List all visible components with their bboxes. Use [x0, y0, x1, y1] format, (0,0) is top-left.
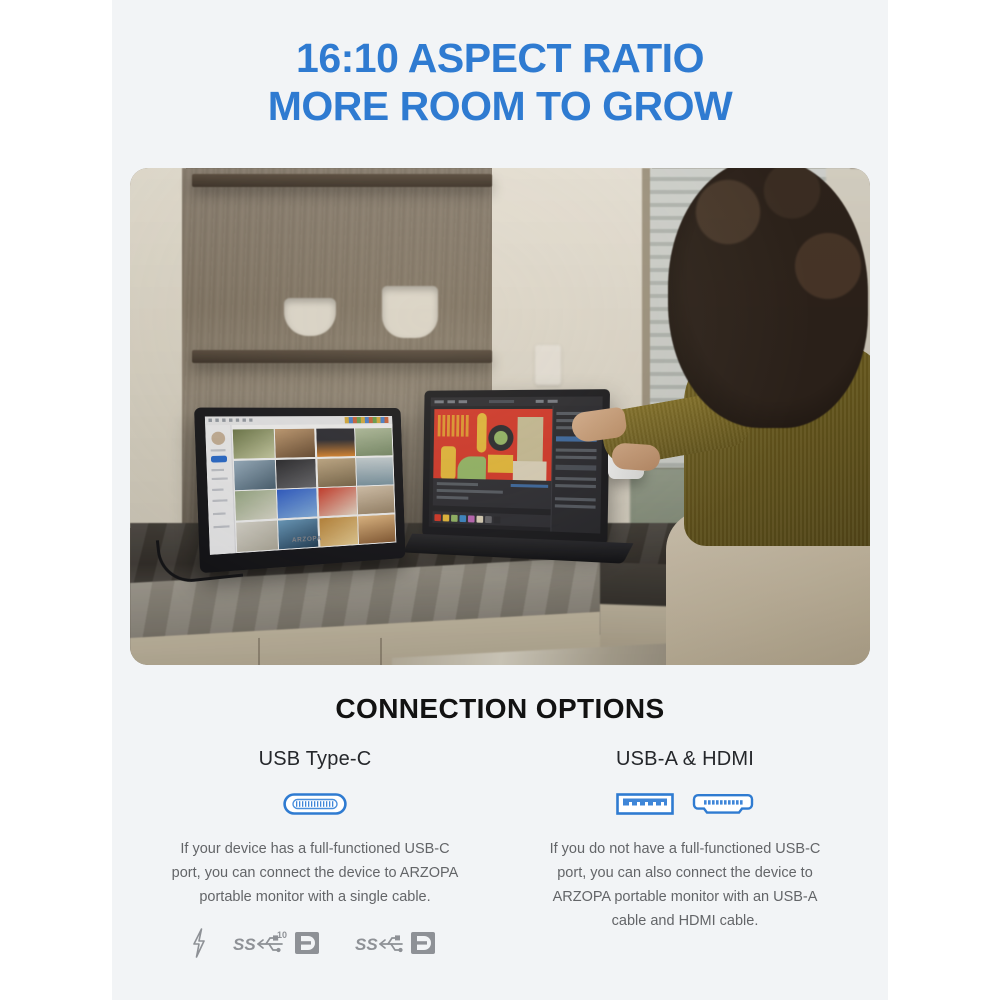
kitchen-wall-left [130, 168, 186, 528]
sidebar-line [212, 488, 224, 491]
superspeed-usb-displayport-icon: SS [355, 928, 439, 958]
connection-option-usb-a-hdmi: USB-A & HDMI [500, 748, 870, 933]
sidebar-line [211, 449, 226, 451]
gallery-thumbnail [233, 429, 275, 459]
gallery-thumbnail [235, 490, 277, 521]
option-description: If you do not have a full-functioned USB… [500, 837, 870, 933]
connection-option-usb-c: USB Type-C If your device h [130, 748, 500, 933]
connection-options-columns: USB Type-C If your device h [130, 748, 870, 933]
cabinet-seam [258, 638, 260, 665]
displayport-logo [295, 932, 319, 954]
sidebar-line [213, 512, 226, 515]
option-title: USB Type-C [130, 748, 500, 771]
sidebar-line [213, 499, 228, 502]
gallery-thumbnail [318, 487, 357, 517]
page-title: 16:10 ASPECT RATIO MORE ROOM TO GROW [112, 34, 888, 130]
ss-label: SS [233, 935, 256, 954]
hero-scene: ARZOPA [130, 168, 870, 665]
gallery-thumbnail [355, 428, 392, 456]
gallery-thumbnail [276, 459, 316, 489]
option-port-icons [500, 791, 870, 817]
avatar [211, 432, 225, 445]
sidebar-primary-button [211, 456, 227, 463]
floating-shelf-bottom [192, 350, 492, 363]
app-menubar [431, 396, 603, 406]
sidebar-line [211, 469, 224, 472]
sidebar-line [213, 525, 229, 528]
gallery-thumbnail [234, 460, 276, 490]
hero-photo: ARZOPA [130, 168, 870, 665]
power-delivery-bolt-icon [191, 928, 207, 958]
gallery-thumbnail [277, 489, 317, 519]
product-infographic-page: 16:10 ASPECT RATIO MORE ROOM TO GROW [0, 0, 1000, 1000]
headline-line-2: MORE ROOM TO GROW [112, 82, 888, 130]
option-title: USB-A & HDMI [500, 748, 870, 771]
gallery-thumbnail [275, 429, 315, 458]
speed-label: 10 [277, 930, 287, 940]
displayport-logo [411, 932, 435, 954]
connection-options-title: CONNECTION OPTIONS [112, 693, 888, 725]
hand-on-trackpad [611, 442, 661, 471]
headline-line-1: 16:10 ASPECT RATIO [296, 35, 704, 81]
usb-a-port-icon [616, 792, 674, 816]
person [628, 168, 870, 665]
ceramic-bowl-right [382, 286, 438, 338]
gallery-thumbnail [357, 486, 394, 515]
toolbar-controls [208, 418, 253, 421]
hdmi-port-icon [692, 792, 754, 816]
cabinet-seam [380, 638, 382, 665]
color-swatches [432, 511, 555, 528]
sidebar-line [212, 477, 228, 480]
toolbar-color-strip [345, 417, 389, 423]
gallery-thumbnail [317, 458, 356, 487]
floating-shelf-top [192, 174, 492, 187]
certification-logo-strip: SS 10 SS [130, 928, 500, 958]
option-port-icons [130, 791, 500, 817]
usb-c-port-icon [283, 792, 347, 816]
timeline-panel [433, 478, 554, 509]
arzopa-logo: ARZOPA [292, 536, 322, 544]
gallery-thumbnail [356, 457, 393, 486]
option-description: If your device has a full-functioned USB… [130, 837, 500, 909]
wall-outlet [535, 345, 561, 385]
superspeed-usb-10gbps-displayport-icon: SS 10 [233, 928, 329, 958]
curly-hair [668, 168, 868, 428]
monitor-app-toolbar [205, 416, 393, 425]
gallery-thumbnail [316, 428, 355, 457]
ss-label: SS [355, 935, 378, 954]
